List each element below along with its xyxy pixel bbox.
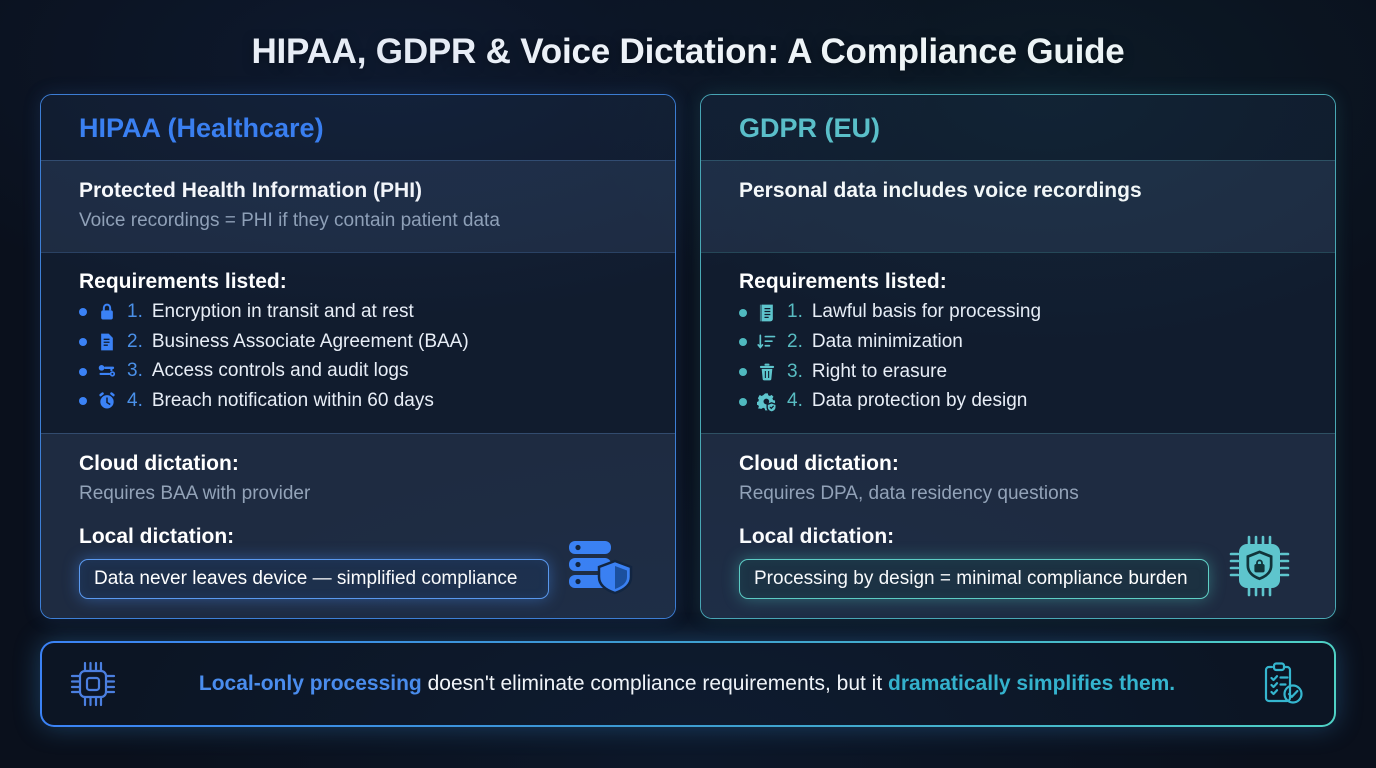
list-item: 4. Breach notification within 60 days (79, 389, 637, 414)
card-hipaa-dictation-band: Cloud dictation: Requires BAA with provi… (41, 433, 675, 618)
card-gdpr-cloud-head: Cloud dictation: (739, 451, 1297, 477)
card-hipaa-requirements-band: Requirements listed: 1. Encryption in tr… (41, 252, 675, 433)
bullet-dot (79, 308, 87, 316)
card-gdpr-local-row: Local dictation: Processing by design = … (739, 524, 1297, 599)
list-item: 3. Access controls and audit logs (79, 359, 637, 384)
conclusion-banner-wrapper: Local-only processing doesn't eliminate … (40, 641, 1336, 727)
req-text: Access controls and audit logs (152, 359, 409, 384)
card-hipaa-requirements-title: Requirements listed: (79, 270, 637, 294)
req-text: Breach notification within 60 days (152, 389, 434, 414)
bullet-dot (79, 338, 87, 346)
sort-descending-icon (756, 331, 778, 353)
bullet-dot (739, 368, 747, 376)
card-hipaa-summary-sub: Voice recordings = PHI if they contain p… (79, 209, 637, 233)
card-gdpr-summary-band: Personal data includes voice recordings (701, 160, 1335, 252)
card-hipaa-summary-head: Protected Health Information (PHI) (79, 178, 637, 204)
req-number: 2. (127, 330, 143, 355)
key-access-icon (96, 361, 118, 383)
card-gdpr: GDPR (EU) Personal data includes voice r… (700, 94, 1336, 619)
req-number: 3. (787, 360, 803, 385)
req-number: 3. (127, 359, 143, 384)
cpu-chip-icon (68, 659, 118, 709)
list-item: 1. Lawful basis for processing (739, 300, 1297, 325)
card-gdpr-local-head: Local dictation: (739, 524, 1209, 550)
card-gdpr-requirements-title: Requirements listed: (739, 270, 1297, 294)
req-number: 1. (127, 300, 143, 325)
list-item: 2. Data minimization (739, 330, 1297, 355)
card-gdpr-cloud-sub: Requires DPA, data residency questions (739, 482, 1297, 506)
list-item: 2. Business Associate Agreement (BAA) (79, 330, 637, 355)
lock-icon (96, 301, 118, 323)
conclusion-banner-text: Local-only processing doesn't eliminate … (136, 672, 1238, 696)
card-hipaa-local-head: Local dictation: (79, 524, 549, 550)
card-hipaa-local-highlight: Data never leaves device — simplified co… (79, 559, 549, 599)
req-number: 1. (787, 300, 803, 325)
card-hipaa-title: HIPAA (Healthcare) (79, 113, 637, 144)
trash-icon (756, 361, 778, 383)
bullet-dot (739, 338, 747, 346)
bullet-dot (739, 398, 747, 406)
card-gdpr-requirements-list: 1. Lawful basis for processing 2. (739, 300, 1297, 414)
req-text: Business Associate Agreement (BAA) (152, 330, 469, 355)
comparison-cards: HIPAA (Healthcare) Protected Health Info… (0, 72, 1376, 619)
bullet-dot (739, 309, 747, 317)
card-hipaa-header: HIPAA (Healthcare) (41, 95, 675, 160)
banner-segment-cyan: dramatically simplifies them. (888, 672, 1175, 695)
bullet-dot (79, 368, 87, 376)
list-item: 1. Encryption in transit and at rest (79, 300, 637, 325)
card-gdpr-requirements-band: Requirements listed: 1. Lawful basi (701, 252, 1335, 433)
card-gdpr-title: GDPR (EU) (739, 113, 1297, 144)
scroll-document-icon (756, 302, 778, 324)
list-item: 4. Data protection by design (739, 389, 1297, 414)
list-item: 3. Right to erasure (739, 360, 1297, 385)
card-hipaa-requirements-list: 1. Encryption in transit and at rest 2. (79, 300, 637, 414)
req-number: 4. (787, 389, 803, 414)
card-gdpr-header: GDPR (EU) (701, 95, 1335, 160)
card-hipaa-cloud-head: Cloud dictation: (79, 451, 637, 477)
banner-segment-plain: doesn't eliminate compliance requirement… (422, 672, 888, 695)
banner-segment-blue: Local-only processing (199, 672, 422, 695)
card-hipaa-summary-band: Protected Health Information (PHI) Voice… (41, 160, 675, 252)
card-gdpr-summary-sub (739, 209, 1297, 233)
chip-shield-lock-icon (1221, 535, 1297, 597)
card-hipaa-cloud-sub: Requires BAA with provider (79, 482, 637, 506)
alarm-clock-icon (96, 390, 118, 412)
bullet-dot (79, 397, 87, 405)
gear-shield-icon (756, 391, 778, 413)
card-hipaa-local-row: Local dictation: Data never leaves devic… (79, 524, 637, 599)
req-text: Data minimization (812, 330, 963, 355)
req-text: Lawful basis for processing (812, 300, 1041, 325)
server-shield-icon (561, 535, 637, 597)
page-title: HIPAA, GDPR & Voice Dictation: A Complia… (0, 0, 1376, 72)
clipboard-check-icon (1256, 658, 1308, 710)
document-icon (96, 331, 118, 353)
card-gdpr-dictation-band: Cloud dictation: Requires DPA, data resi… (701, 433, 1335, 618)
req-number: 2. (787, 330, 803, 355)
req-number: 4. (127, 389, 143, 414)
conclusion-banner: Local-only processing doesn't eliminate … (42, 643, 1334, 725)
card-gdpr-local-highlight: Processing by design = minimal complianc… (739, 559, 1209, 599)
req-text: Data protection by design (812, 389, 1027, 414)
infographic-page: HIPAA, GDPR & Voice Dictation: A Complia… (0, 0, 1376, 768)
req-text: Encryption in transit and at rest (152, 300, 414, 325)
req-text: Right to erasure (812, 360, 947, 385)
card-hipaa: HIPAA (Healthcare) Protected Health Info… (40, 94, 676, 619)
card-gdpr-summary-head: Personal data includes voice recordings (739, 178, 1297, 204)
